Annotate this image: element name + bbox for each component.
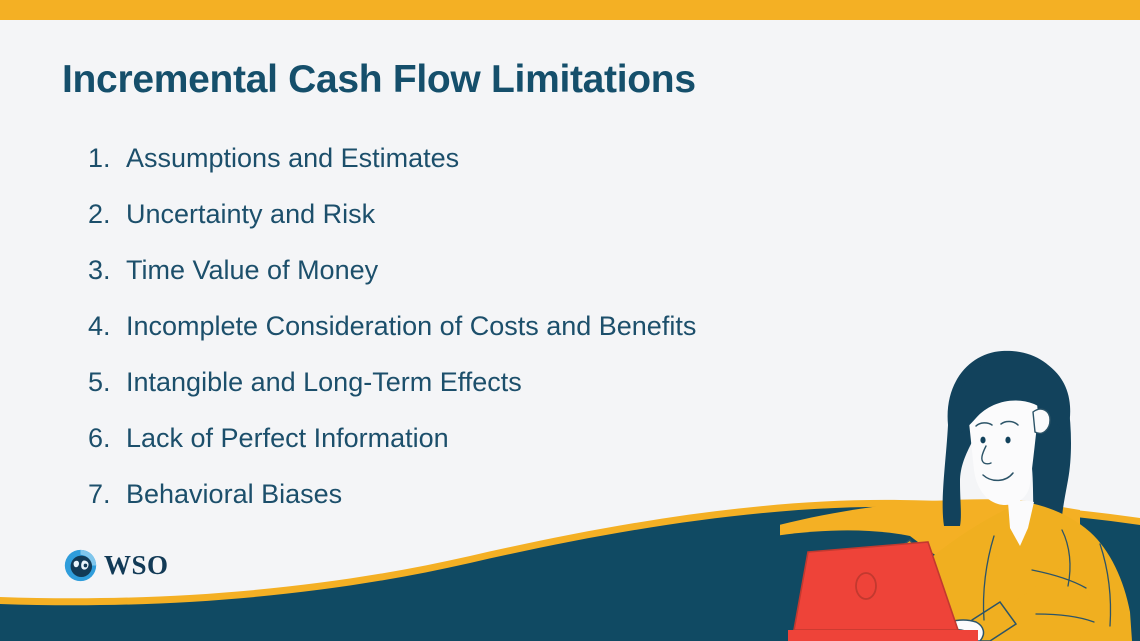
list-item-label: Lack of Perfect Information <box>126 423 449 454</box>
page-title: Incremental Cash Flow Limitations <box>62 58 696 102</box>
wso-wordmark: WSO <box>104 552 169 579</box>
list-item-number: 4. <box>88 311 126 342</box>
list-item-number: 3. <box>88 255 126 286</box>
list-item-number: 6. <box>88 423 126 454</box>
woman-at-laptop-illustration <box>780 330 1140 641</box>
globe-dot <box>84 564 88 568</box>
list-item-label: Intangible and Long-Term Effects <box>126 367 522 398</box>
list-item-number: 1. <box>88 143 126 174</box>
wso-globe-icon <box>64 549 97 582</box>
list-item-label: Behavioral Biases <box>126 479 342 510</box>
slide-canvas: Incremental Cash Flow Limitations 1. Ass… <box>0 0 1140 641</box>
list-item-label: Assumptions and Estimates <box>126 143 459 174</box>
list-item: 1. Assumptions and Estimates <box>88 143 908 199</box>
list-item-label: Uncertainty and Risk <box>126 199 375 230</box>
list-item-label: Time Value of Money <box>126 255 378 286</box>
list-item-number: 5. <box>88 367 126 398</box>
laptop-base <box>788 630 978 641</box>
list-item-label: Incomplete Consideration of Costs and Be… <box>126 311 696 342</box>
ear <box>1033 409 1050 433</box>
list-item: 3. Time Value of Money <box>88 255 908 311</box>
eye-right <box>1005 437 1010 444</box>
wso-logo[interactable]: WSO <box>64 549 169 582</box>
list-item: 2. Uncertainty and Risk <box>88 199 908 255</box>
list-item-number: 7. <box>88 479 126 510</box>
top-accent-bar <box>0 0 1140 20</box>
eye-left <box>980 437 985 444</box>
list-item-number: 2. <box>88 199 126 230</box>
